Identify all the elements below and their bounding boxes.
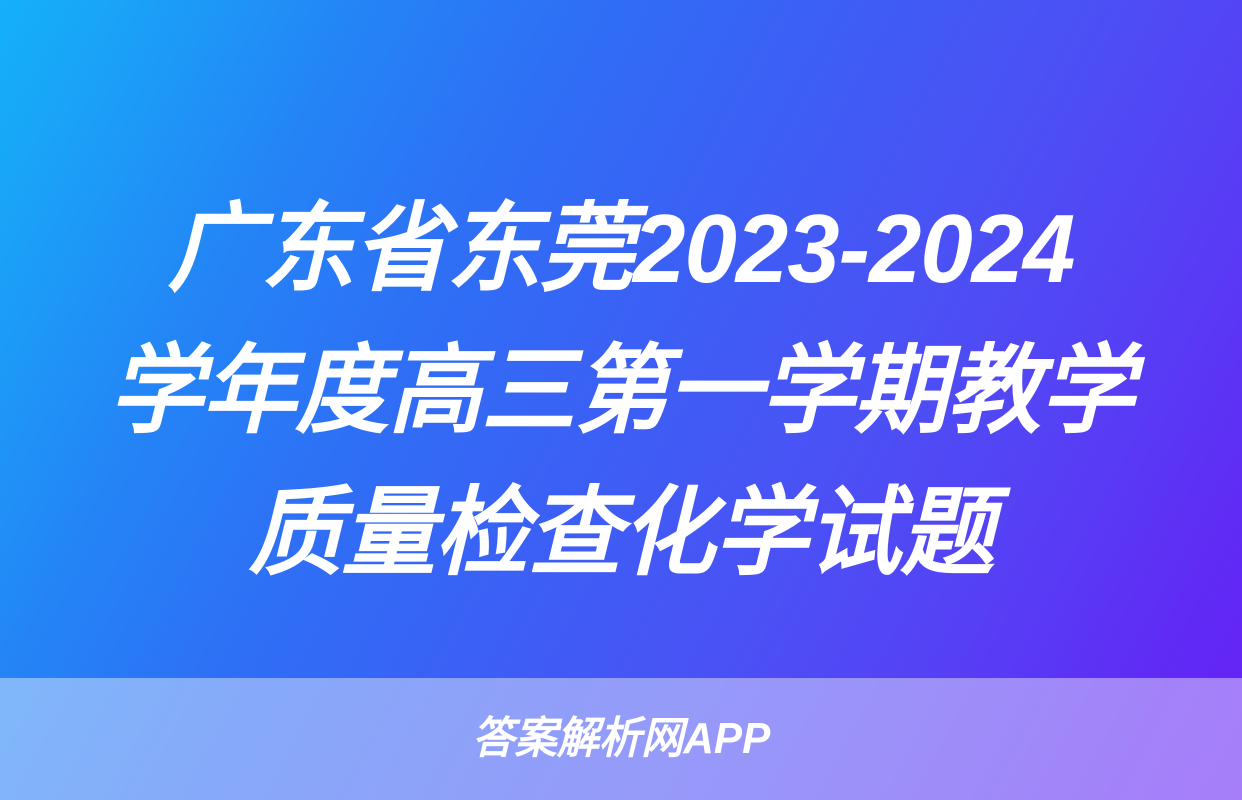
title-line-2: 学年度高三第一学期教学 bbox=[73, 320, 1169, 462]
exam-paper-cover-banner: 广东省东莞2023-2024 学年度高三第一学期教学 质量检查化学试题 答案解析… bbox=[0, 0, 1242, 800]
footer-watermark-band: 答案解析网APP bbox=[0, 678, 1242, 800]
page-title: 广东省东莞2023-2024 学年度高三第一学期教学 质量检查化学试题 bbox=[0, 178, 1242, 604]
title-line-1: 广东省东莞2023-2024 bbox=[73, 178, 1169, 320]
title-line-3: 质量检查化学试题 bbox=[73, 462, 1169, 604]
app-watermark-label: 答案解析网APP bbox=[472, 714, 770, 764]
